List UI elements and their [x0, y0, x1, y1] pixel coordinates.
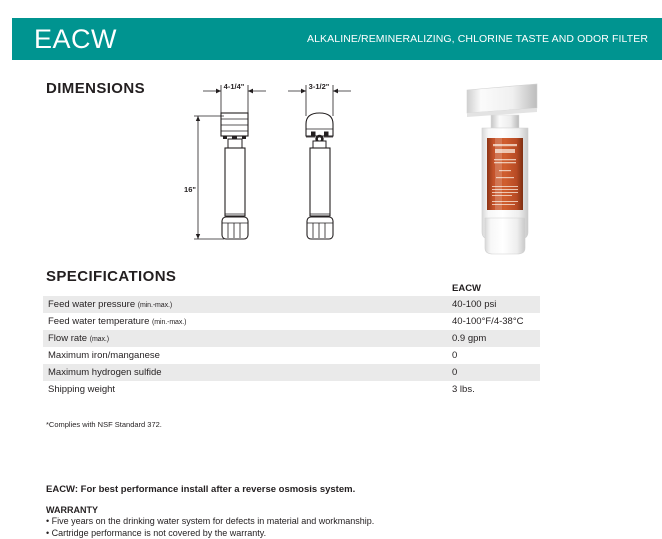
spec-value: 0 [452, 347, 457, 364]
spec-value: 40-100°F/4-38°C [452, 313, 524, 330]
header-band: EACW ALKALINE/REMINERALIZING, CHLORINE T… [12, 18, 662, 60]
spec-label: Maximum iron/manganese [48, 347, 160, 365]
table-row: Shipping weight 3 lbs. [43, 381, 540, 398]
dimension-label-height: 16" [184, 185, 196, 194]
table-row: Feed water temperature (min.-max.) 40-10… [43, 313, 540, 330]
warranty-title: WARRANTY [46, 505, 374, 515]
dimension-label-front-width: 3-1/2" [309, 82, 330, 91]
warranty-item: • Cartridge performance is not covered b… [46, 528, 374, 539]
table-row: Feed water pressure (min.-max.) 40-100 p… [43, 296, 540, 313]
warranty-block: WARRANTY • Five years on the drinking wa… [46, 505, 374, 539]
spec-column-header: EACW [452, 283, 481, 294]
specifications-heading: SPECIFICATIONS [46, 268, 176, 285]
spec-label: Feed water temperature (min.-max.) [48, 313, 186, 331]
spec-value: 0.9 gpm [452, 330, 486, 347]
spec-label: Shipping weight [48, 381, 115, 399]
page-title: EACW [34, 22, 117, 56]
spec-value: 3 lbs. [452, 381, 475, 398]
nsf-footnote: *Complies with NSF Standard 372. [46, 420, 162, 429]
install-note: EACW: For best performance install after… [46, 484, 355, 495]
spec-value: 40-100 psi [452, 296, 496, 313]
header-subtitle: ALKALINE/REMINERALIZING, CHLORINE TASTE … [307, 33, 648, 45]
table-row: Flow rate (max.) 0.9 gpm [43, 330, 540, 347]
spec-label: Flow rate (max.) [48, 330, 109, 348]
spec-label: Feed water pressure (min.-max.) [48, 296, 172, 314]
spec-value: 0 [452, 364, 457, 381]
dimension-label-side-width: 4-1/4" [224, 82, 245, 91]
table-row: Maximum hydrogen sulfide 0 [43, 364, 540, 381]
dimensions-heading: DIMENSIONS [46, 80, 145, 97]
table-row: Maximum iron/manganese 0 [43, 347, 540, 364]
spec-label: Maximum hydrogen sulfide [48, 364, 162, 382]
product-photo [455, 82, 575, 262]
dimensions-drawing: 4-1/4" 3-1/2" 16" [178, 76, 374, 256]
spec-rows-container: Feed water pressure (min.-max.) 40-100 p… [43, 296, 540, 398]
